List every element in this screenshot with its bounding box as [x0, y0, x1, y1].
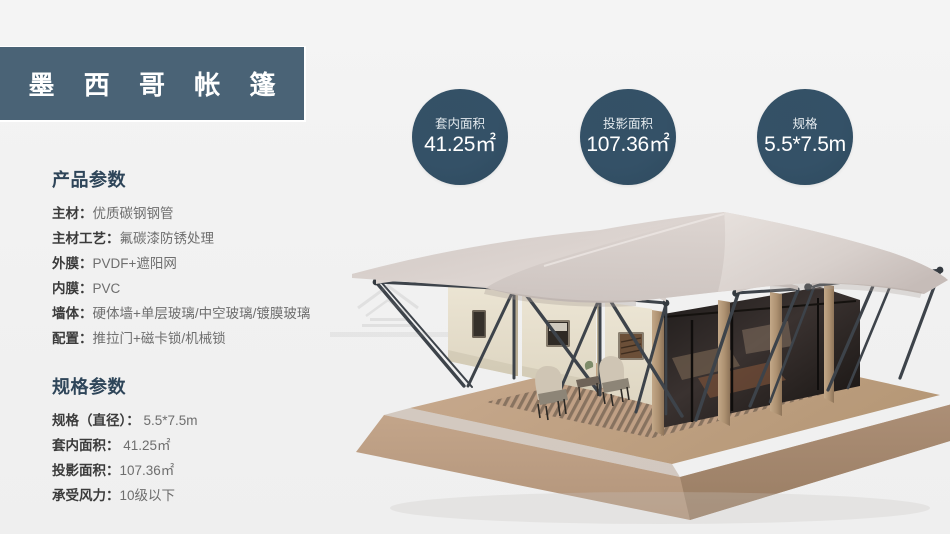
spec-value: 氟碳漆防锈处理	[120, 231, 215, 246]
spec-label: 墙体：	[52, 306, 93, 321]
stat-badge-dimensions: 规格 5.5*7.5m	[757, 89, 853, 185]
stat-badge-label: 套内面积	[435, 117, 485, 132]
spec-value: 优质碳钢钢管	[93, 206, 174, 221]
title-banner: 墨 西 哥 帐 篷	[0, 46, 306, 122]
stat-badge-value: 107.36㎡	[586, 133, 669, 157]
spec-label: 主材工艺：	[52, 231, 120, 246]
spec-label: 主材：	[52, 206, 93, 221]
stat-badge-value: 5.5*7.5m	[764, 133, 846, 157]
membrane-canopy	[352, 212, 948, 307]
spec-label: 内膜：	[52, 281, 93, 296]
spec-value: 5.5*7.5m	[140, 413, 198, 428]
slide-canvas: 墨 西 哥 帐 篷 套内面积 41.25㎡ 投影面积 107.36㎡ 规格 5.…	[0, 0, 950, 534]
spec-label: 投影面积：	[52, 463, 120, 478]
stat-badge-interior-area: 套内面积 41.25㎡	[412, 89, 508, 185]
spec-value: 107.36㎡	[120, 463, 175, 478]
tent-render-svg	[300, 190, 950, 534]
spec-label: 承受风力：	[52, 488, 120, 503]
spec-value: PVDF+遮阳网	[93, 256, 177, 271]
stat-badge-label: 投影面积	[603, 117, 653, 132]
section-heading: 产品参数	[52, 166, 382, 192]
spec-value: 41.25㎡	[120, 438, 171, 453]
stat-badge-label: 规格	[792, 117, 817, 132]
tent-illustration	[300, 190, 950, 534]
spec-value: PVC	[93, 281, 121, 296]
spec-label: 规格（直径）：	[52, 413, 140, 428]
stat-badge-projected-area: 投影面积 107.36㎡	[580, 89, 676, 185]
stat-badge-value: 41.25㎡	[424, 133, 496, 157]
spec-value: 推拉门+磁卡锁/机械锁	[93, 331, 226, 346]
page-title: 墨 西 哥 帐 篷	[18, 65, 287, 102]
spec-value: 10级以下	[120, 488, 176, 503]
spec-value: 硬体墙+单层玻璃/中空玻璃/镀膜玻璃	[93, 306, 311, 321]
spec-label: 配置：	[52, 331, 93, 346]
spec-label: 套内面积：	[52, 438, 120, 453]
spec-label: 外膜：	[52, 256, 93, 271]
